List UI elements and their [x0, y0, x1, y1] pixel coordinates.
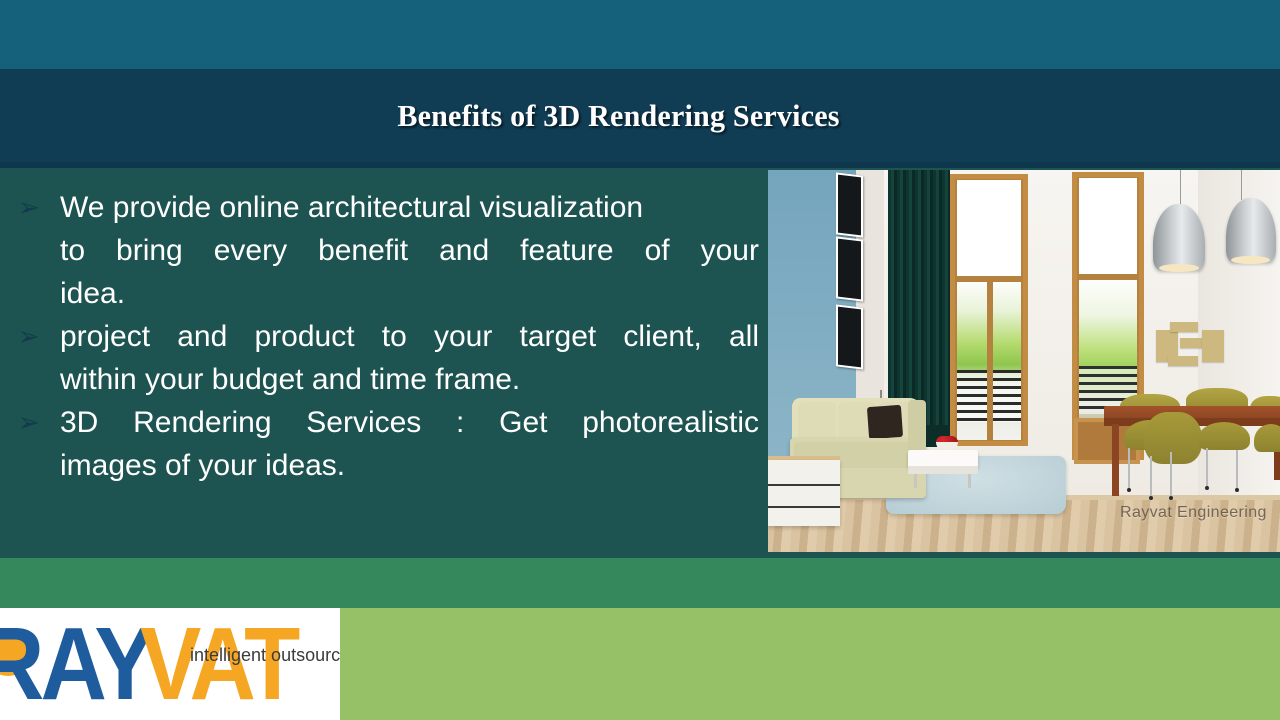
chair-leg: [1150, 456, 1152, 498]
drawer-line: [768, 506, 840, 508]
green-band: [0, 558, 1280, 608]
coffee-table-leg: [914, 474, 917, 488]
chair-foot: [1149, 496, 1153, 500]
bullet-text: 3DRenderingServices:Getphotorealistic im…: [60, 401, 759, 487]
bullet-line: tobringeverybenefitandfeatureofyour: [60, 229, 759, 272]
bullet-line: within your budget and time frame.: [60, 358, 759, 401]
list-item: ➢ projectandproducttoyourtargetclient,al…: [14, 315, 759, 401]
logo-tagline: intelligent outsourcing: [190, 645, 340, 666]
bullet-line: idea.: [60, 272, 759, 315]
window-mullion: [987, 282, 993, 440]
window-glass: [957, 180, 1021, 276]
arrow-bullet-icon: ➢: [14, 315, 60, 358]
window-mullion: [1079, 274, 1137, 280]
throw-pillow: [867, 405, 903, 439]
chair-leg: [1236, 450, 1238, 490]
chair-foot: [1205, 486, 1209, 490]
sideboard: [768, 460, 840, 526]
pendant-cord: [1241, 170, 1242, 200]
list-item: ➢ We provide online architectural visual…: [14, 186, 759, 315]
picture-frame: [836, 304, 863, 369]
page-title: Benefits of 3D Rendering Services: [19, 98, 1219, 144]
drawer-line: [768, 484, 840, 486]
bullet-text: projectandproducttoyourtargetclient,all …: [60, 315, 759, 401]
top-accent-band: [0, 0, 1280, 69]
dining-chair: [1144, 412, 1202, 464]
chair-leg: [1128, 448, 1130, 490]
coffee-table-leg: [968, 474, 971, 488]
bullet-line: projectandproducttoyourtargetclient,all: [60, 315, 759, 358]
pendant-cord: [1180, 170, 1181, 206]
dining-chair: [1198, 422, 1250, 450]
interior-render-image: Rayvat Engineering: [768, 170, 1280, 552]
floor-lamp-shade: [870, 370, 892, 390]
bullet-text: We provide online architectural visualiz…: [60, 186, 759, 315]
chair-foot: [1235, 488, 1239, 492]
dining-table-leg: [1112, 424, 1119, 496]
dining-chair: [1254, 424, 1280, 452]
arrow-bullet-icon: ➢: [14, 186, 60, 229]
logo[interactable]: RAY VAT intelligent outsourcing: [0, 608, 340, 720]
coffee-table-side: [908, 466, 978, 474]
bullet-line: 3DRenderingServices:Getphotorealistic: [60, 401, 759, 444]
wall-shelf: [1170, 322, 1198, 332]
chair-foot: [1127, 488, 1131, 492]
image-watermark: Rayvat Engineering: [1120, 504, 1267, 522]
list-item: ➢ 3DRenderingServices:Getphotorealistic …: [14, 401, 759, 487]
picture-frame: [836, 236, 863, 301]
wall-shelf: [1168, 356, 1198, 366]
window-glass: [1079, 178, 1137, 274]
chair-leg: [1170, 452, 1172, 498]
lamp-glow: [1159, 264, 1199, 272]
chair-foot: [1169, 496, 1173, 500]
slide-canvas: Benefits of 3D Rendering Services ➢ We p…: [0, 0, 1280, 720]
bullet-line: We provide online architectural visualiz…: [60, 186, 759, 229]
lamp-glow: [1231, 256, 1270, 264]
bullet-line: images of your ideas.: [60, 444, 759, 487]
picture-frame: [836, 172, 863, 237]
wall-shelf: [1202, 330, 1224, 362]
logo-text-primary: RAY: [0, 613, 152, 716]
chair-leg: [1206, 448, 1208, 488]
bullet-list: ➢ We provide online architectural visual…: [14, 186, 759, 487]
arrow-bullet-icon: ➢: [14, 401, 60, 444]
